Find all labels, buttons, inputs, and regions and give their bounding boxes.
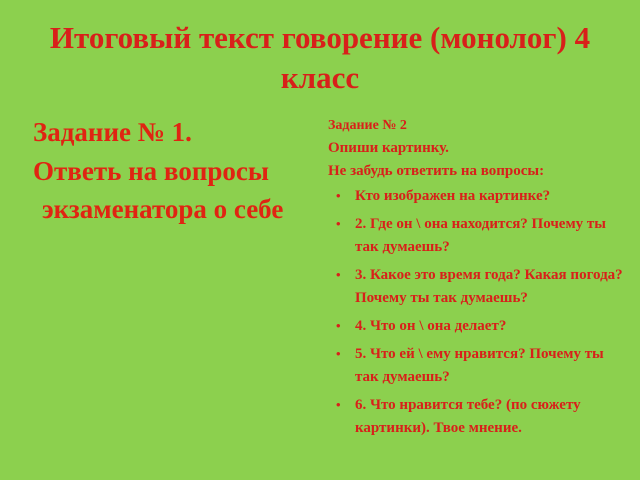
- list-item: 4. Что он \ она делает?: [328, 315, 628, 338]
- right-content-block: Задание № 2 Опиши картинку. Не забудь от…: [328, 114, 628, 445]
- task-2-subinstruction: Не забудь ответить на вопросы:: [328, 160, 628, 183]
- question-list: Кто изображен на картинке? 2. Где он \ о…: [328, 185, 628, 440]
- slide-title: Итоговый текст говорение (монолог) 4 кла…: [34, 18, 606, 98]
- task-1-body: Ответь на вопросы экзаменатора о себе: [24, 152, 320, 228]
- task-2-instruction: Опиши картинку.: [328, 137, 628, 160]
- list-item: 6. Что нравится тебе? (по сюжету картинк…: [328, 394, 628, 440]
- slide-canvas: Итоговый текст говорение (монолог) 4 кла…: [0, 0, 640, 480]
- list-item: 2. Где он \ она находится? Почему ты так…: [328, 213, 628, 259]
- list-item: 3. Какое это время года? Какая погода? П…: [328, 264, 628, 310]
- list-item: Кто изображен на картинке?: [328, 185, 628, 208]
- task-1-heading: Задание № 1.: [24, 113, 320, 151]
- left-content-block: Задание № 1. Ответь на вопросы экзаменат…: [24, 113, 320, 228]
- task-2-heading: Задание № 2: [328, 114, 628, 137]
- list-item: 5. Что ей \ ему нравится? Почему ты так …: [328, 343, 628, 389]
